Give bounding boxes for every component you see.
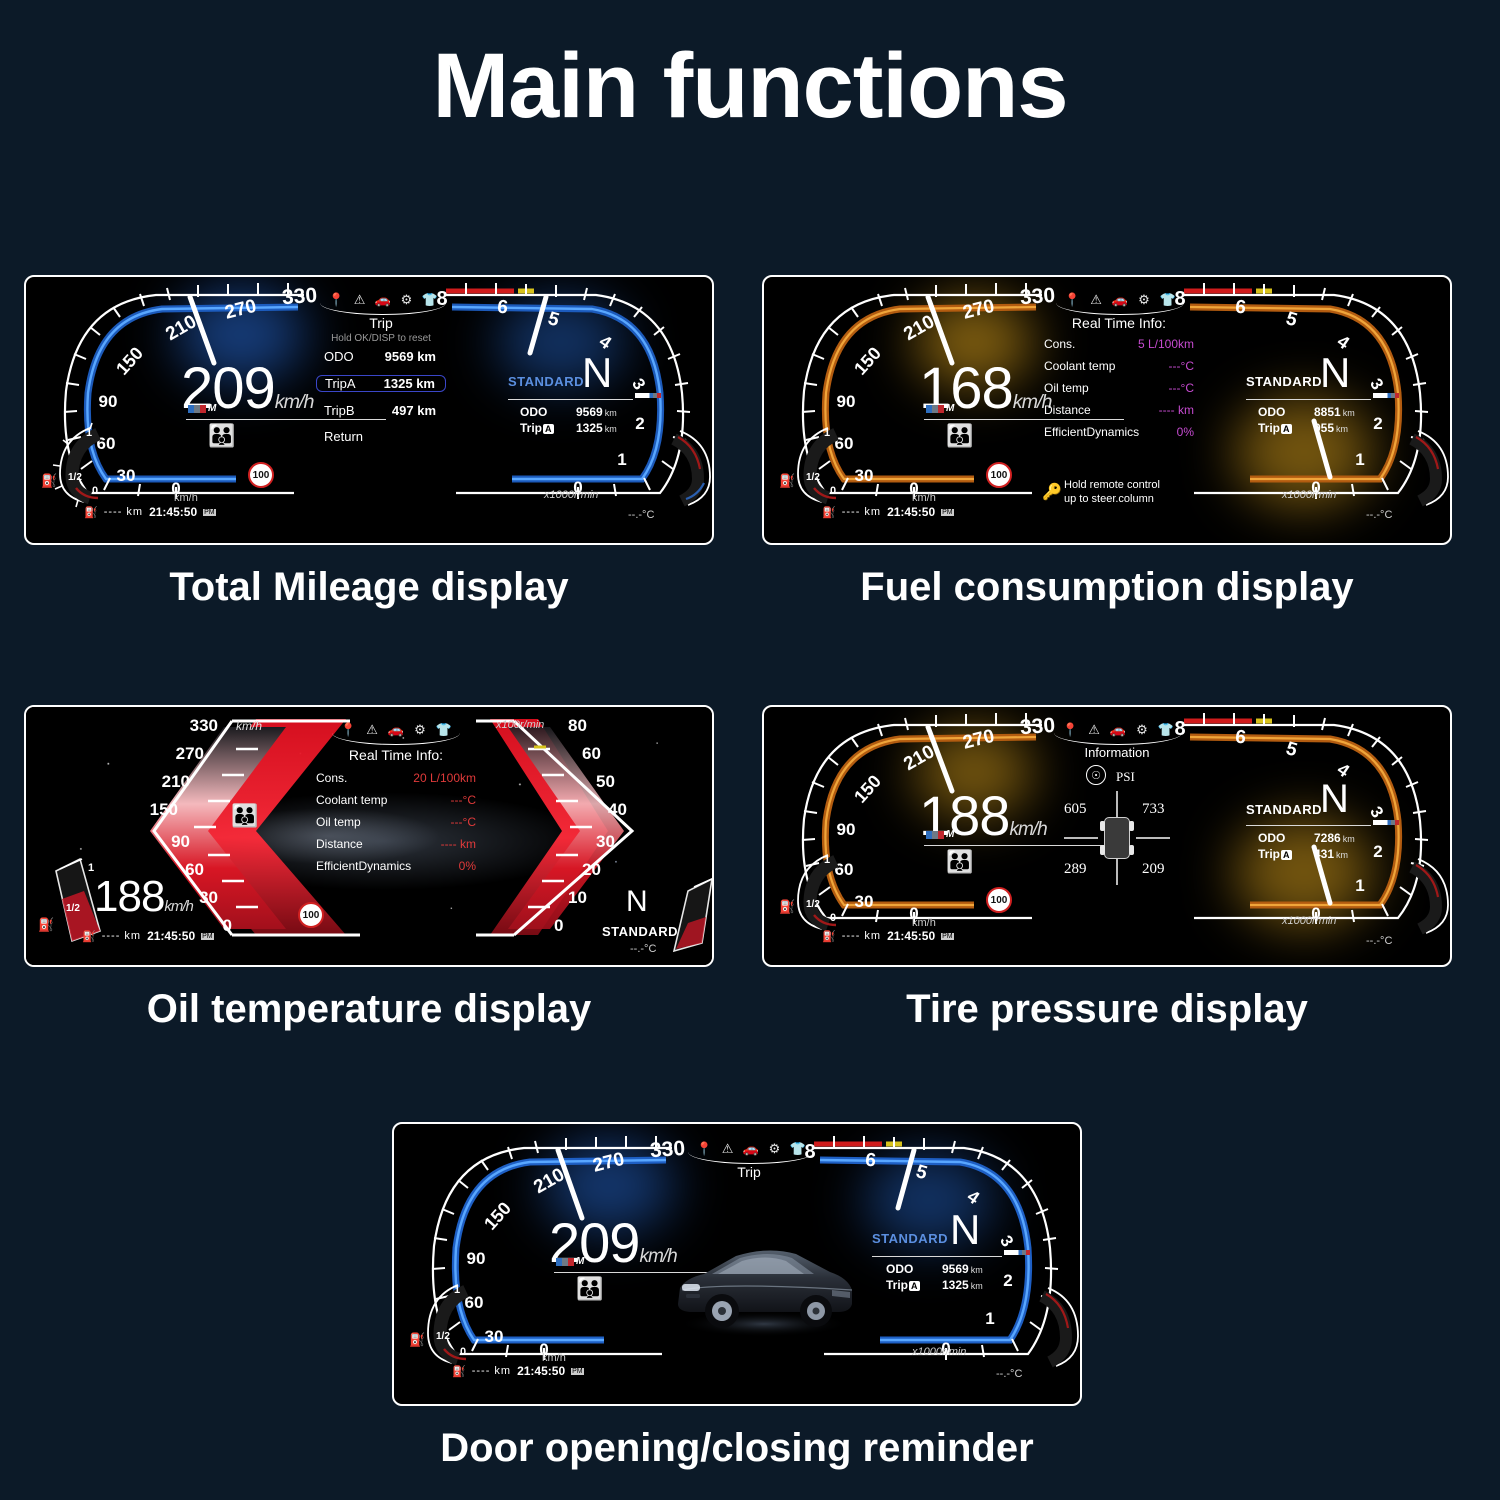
tire-front-left-value: 605 bbox=[1064, 801, 1087, 818]
panel-caption-door-reminder: Door opening/closing reminder bbox=[392, 1426, 1082, 1471]
panel-fuel-consumption: 330 270 210 150 90 60 30 0 km/h 1 bbox=[762, 275, 1452, 545]
outside-temp: --.-°C bbox=[628, 509, 654, 521]
gear-indicator: N bbox=[950, 1206, 980, 1254]
product-feature-page: Main functions bbox=[0, 0, 1500, 1500]
tpms-tyre-rr bbox=[1129, 845, 1134, 855]
svg-text:210: 210 bbox=[162, 772, 190, 791]
svg-text:20: 20 bbox=[582, 860, 601, 879]
gear-indicator: N bbox=[626, 885, 648, 919]
svg-text:330: 330 bbox=[649, 1137, 686, 1162]
svg-text:6: 6 bbox=[1234, 727, 1247, 749]
speed-unit-label: km/h bbox=[174, 492, 198, 504]
svg-text:330: 330 bbox=[190, 716, 218, 735]
tpms-tyre-rl bbox=[1100, 845, 1105, 855]
pressure-unit-label: PSI bbox=[1116, 769, 1135, 785]
gear-indicator: N bbox=[1320, 349, 1350, 397]
rti-row-efficientdynamics: EfficientDynamics 0% bbox=[316, 859, 476, 873]
clock-value: 21:45:50 bbox=[149, 505, 197, 519]
svg-text:3: 3 bbox=[1366, 803, 1387, 821]
rti-value: ---°C bbox=[399, 815, 476, 829]
svg-text:30: 30 bbox=[485, 1327, 504, 1346]
rpm-unit-label: x1000r/min bbox=[912, 1346, 966, 1358]
range-icon: ⛽ bbox=[822, 930, 836, 943]
svg-text:2: 2 bbox=[1003, 1271, 1012, 1290]
panel-door-reminder: 330 270 210 150 90 60 30 0 km/h 1 bbox=[392, 1122, 1082, 1406]
svg-text:90: 90 bbox=[99, 392, 118, 411]
svg-text:0: 0 bbox=[830, 912, 836, 924]
speed-unit-label: km/h bbox=[912, 917, 936, 929]
panel-oil-temperature: 330 270 210 150 90 60 30 0 km/h 1 bbox=[24, 705, 714, 967]
svg-text:330: 330 bbox=[281, 284, 318, 309]
rti-value: 0% bbox=[411, 859, 476, 873]
bottom-status-bar: ⛽ ---- km 21:45:50 PM bbox=[84, 505, 216, 519]
svg-text:1/2: 1/2 bbox=[806, 472, 820, 483]
tpms-tyre-fl bbox=[1100, 821, 1105, 831]
coolant-gauge bbox=[1404, 425, 1452, 511]
speed-limit-sign: 100 bbox=[986, 462, 1012, 488]
range-value: ---- km bbox=[842, 506, 881, 518]
svg-text:1: 1 bbox=[454, 1284, 460, 1296]
menu-label: TripA bbox=[317, 376, 376, 391]
svg-text:150: 150 bbox=[480, 1198, 515, 1234]
drive-mode-label: STANDARD bbox=[1246, 801, 1322, 819]
speed-limit-sign: 100 bbox=[248, 462, 274, 488]
tachometer-dial: 8 6 5 4 3 2 1 0 bbox=[1164, 711, 1444, 946]
svg-text:30: 30 bbox=[117, 466, 136, 485]
trip-readout: TripA1325km bbox=[886, 1278, 983, 1292]
menu-label: Return bbox=[316, 429, 376, 444]
drive-mode-label: STANDARD bbox=[1246, 373, 1322, 391]
svg-text:150: 150 bbox=[112, 343, 147, 379]
tachometer-dial: 8 6 5 4 3 2 1 0 bbox=[794, 1134, 1074, 1382]
fuel-pump-icon: ⛽ bbox=[409, 1332, 425, 1348]
svg-text:1/2: 1/2 bbox=[66, 903, 80, 914]
svg-text:270: 270 bbox=[176, 744, 204, 763]
speed-limit-sign: 100 bbox=[986, 887, 1012, 913]
rpm-unit-label: x1000r/min bbox=[1282, 489, 1336, 501]
remote-control-message: Hold remote controlup to steer.column bbox=[1064, 479, 1160, 507]
fuel-gauge: 1 1/2 0 bbox=[46, 422, 116, 512]
m-logo: M bbox=[926, 831, 954, 839]
rti-value: ---°C bbox=[399, 793, 476, 807]
svg-text:30: 30 bbox=[855, 892, 874, 911]
coolant-gauge bbox=[666, 425, 714, 511]
svg-text:1: 1 bbox=[1355, 876, 1364, 895]
m-stripe bbox=[1373, 820, 1399, 825]
m-logo: M bbox=[926, 405, 954, 413]
svg-text:6: 6 bbox=[864, 1150, 877, 1172]
clock-value: 21:45:50 bbox=[147, 929, 195, 943]
trip-readout: TripA1325km bbox=[520, 421, 617, 435]
panel-caption-total-mileage: Total Mileage display bbox=[24, 565, 714, 610]
range-value: ---- km bbox=[472, 1365, 511, 1377]
tpms-car-diagram bbox=[1104, 817, 1130, 859]
range-icon: ⛽ bbox=[84, 506, 98, 519]
m-stripe bbox=[1373, 393, 1399, 398]
tire-front-right-value: 733 bbox=[1142, 801, 1165, 818]
gear-indicator: N bbox=[1320, 777, 1349, 822]
speed-unit-label: km/h bbox=[542, 1352, 566, 1364]
range-value: ---- km bbox=[104, 506, 143, 518]
svg-text:2: 2 bbox=[1373, 414, 1382, 433]
svg-text:90: 90 bbox=[467, 1249, 486, 1268]
svg-text:50: 50 bbox=[596, 772, 615, 791]
svg-text:3: 3 bbox=[628, 375, 649, 393]
coolant-gauge bbox=[1034, 1282, 1082, 1372]
fuel-gauge: 1 1/2 0 bbox=[784, 849, 854, 939]
tach-divider bbox=[1246, 825, 1371, 826]
svg-text:1/2: 1/2 bbox=[806, 899, 820, 910]
m-stripe bbox=[635, 393, 661, 398]
fuel-pump-icon: ⛽ bbox=[779, 473, 795, 489]
rti-row-cons: Cons. 20 L/100km bbox=[316, 771, 476, 785]
coolant-gauge bbox=[666, 867, 714, 957]
rti-value: 20 L/100km bbox=[399, 771, 476, 785]
clock-ampm: PM bbox=[201, 933, 214, 940]
svg-text:1: 1 bbox=[985, 1309, 994, 1328]
fuel-pump-icon: ⛽ bbox=[38, 917, 54, 933]
outside-temp: --.-°C bbox=[630, 943, 656, 955]
range-icon: ⛽ bbox=[82, 930, 96, 943]
drive-mode-label: STANDARD bbox=[872, 1230, 948, 1248]
clock-ampm: PM bbox=[571, 1368, 584, 1375]
odo-readout: ODO9569km bbox=[886, 1262, 983, 1276]
fuel-gauge: 1 1/2 0 bbox=[784, 422, 854, 512]
tach-divider bbox=[508, 399, 633, 400]
svg-text:2: 2 bbox=[1373, 842, 1382, 861]
svg-text:0: 0 bbox=[830, 485, 836, 497]
coolant-gauge bbox=[1404, 853, 1452, 939]
cluster-screen-tire-pressure: 330 270 210 150 90 60 30 0 km/h 1 bbox=[762, 705, 1452, 967]
panel-caption-tire-pressure: Tire pressure display bbox=[762, 987, 1452, 1032]
rti-label: Distance bbox=[316, 837, 399, 851]
rti-label: EfficientDynamics bbox=[1044, 425, 1139, 439]
panel-total-mileage: 330 270 210 150 90 60 30 0 km/h bbox=[24, 275, 714, 545]
svg-text:270: 270 bbox=[961, 726, 997, 754]
menu-label: TripB bbox=[316, 403, 376, 418]
svg-text:270: 270 bbox=[223, 296, 259, 324]
svg-text:60: 60 bbox=[582, 744, 601, 763]
range-icon: ⛽ bbox=[822, 506, 836, 519]
svg-text:0: 0 bbox=[554, 916, 563, 935]
fuel-pump-icon: ⛽ bbox=[41, 473, 57, 489]
center-console-oil-temp: 📍 ⚠ 🚗 ⚙ 👕 Real Time Info: Cons. 20 L/100… bbox=[316, 713, 476, 903]
svg-text:8: 8 bbox=[1174, 718, 1185, 740]
console-arc bbox=[1054, 733, 1182, 745]
trip-readout: TripA955km bbox=[1258, 421, 1348, 435]
speed-unit-label: km/h bbox=[236, 719, 262, 733]
outside-temp: --.-°C bbox=[996, 1368, 1022, 1380]
bottom-status-bar: ⛽ ---- km 21:45:50 PM bbox=[452, 1364, 584, 1378]
console-title: Real Time Info: bbox=[316, 747, 476, 763]
svg-text:30: 30 bbox=[596, 832, 615, 851]
odo-readout: ODO8851km bbox=[1258, 405, 1355, 419]
range-value: ---- km bbox=[842, 930, 881, 942]
svg-text:90: 90 bbox=[837, 392, 856, 411]
svg-text:10: 10 bbox=[568, 888, 587, 907]
svg-text:2: 2 bbox=[635, 414, 644, 433]
rpm-unit-label: x1000r/min bbox=[1282, 915, 1336, 927]
panel-tire-pressure: 330 270 210 150 90 60 30 0 km/h 1 bbox=[762, 705, 1452, 967]
odo-readout: ODO9569km bbox=[520, 405, 617, 419]
bottom-status-bar: ⛽ ---- km 21:45:50 PM bbox=[822, 929, 954, 943]
svg-text:80: 80 bbox=[568, 716, 587, 735]
gear-indicator: N bbox=[582, 349, 612, 397]
svg-text:210: 210 bbox=[900, 741, 938, 775]
rti-row-oil: Oil temp ---°C bbox=[316, 815, 476, 829]
seatbelt-reminder-icon: 👪 bbox=[946, 425, 973, 447]
svg-text:1: 1 bbox=[617, 450, 626, 469]
bottom-status-bar: ⛽ ---- km 21:45:50 PM bbox=[82, 929, 214, 943]
tire-icon: ☉ bbox=[1086, 765, 1106, 785]
svg-text:8: 8 bbox=[1174, 288, 1185, 310]
outside-temp: --.-°C bbox=[1366, 935, 1392, 947]
svg-text:4: 4 bbox=[964, 1186, 983, 1208]
svg-text:90: 90 bbox=[837, 820, 856, 839]
panel-caption-oil-temperature: Oil temperature display bbox=[24, 987, 714, 1032]
range-value: ---- km bbox=[102, 930, 141, 942]
page-title: Main functions bbox=[0, 34, 1500, 139]
rpm-unit-label: x100r/min bbox=[496, 719, 544, 731]
tach-divider bbox=[1246, 399, 1371, 400]
tpms-divider-vertical-bottom bbox=[1116, 855, 1118, 885]
tire-rear-right-value: 209 bbox=[1142, 861, 1165, 878]
svg-text:150: 150 bbox=[150, 800, 178, 819]
rti-label: Cons. bbox=[316, 771, 399, 785]
speed-value: 188km/h bbox=[94, 872, 193, 922]
rpm-unit-label: x1000r/min bbox=[544, 489, 598, 501]
fuel-pump-icon: ⛽ bbox=[779, 899, 795, 915]
svg-text:150: 150 bbox=[850, 771, 885, 807]
svg-text:1: 1 bbox=[824, 854, 830, 866]
tpms-divider-horizontal-left bbox=[1064, 837, 1098, 839]
rti-row-distance: Distance ---- km bbox=[316, 837, 476, 851]
svg-text:0: 0 bbox=[223, 916, 232, 935]
svg-text:3: 3 bbox=[996, 1232, 1017, 1250]
rti-label: Oil temp bbox=[316, 815, 399, 829]
svg-text:1: 1 bbox=[86, 427, 92, 439]
tpms-tyre-fr bbox=[1129, 821, 1134, 831]
console-arc bbox=[332, 733, 460, 745]
svg-text:90: 90 bbox=[171, 832, 190, 851]
bottom-status-bar: ⛽ ---- km 21:45:50 PM bbox=[822, 505, 954, 519]
clock-ampm: PM bbox=[941, 509, 954, 516]
m-stripe bbox=[1004, 1250, 1030, 1255]
tire-rear-left-value: 289 bbox=[1064, 861, 1087, 878]
svg-text:8: 8 bbox=[804, 1141, 815, 1163]
rti-label: Oil temp bbox=[1044, 381, 1122, 395]
tachometer-dial: 8 6 5 4 3 2 1 0 bbox=[426, 281, 706, 521]
svg-text:30: 30 bbox=[199, 888, 218, 907]
fuel-gauge: 1 1/2 0 bbox=[414, 1279, 484, 1374]
svg-text:270: 270 bbox=[591, 1149, 627, 1177]
svg-text:6: 6 bbox=[1234, 297, 1247, 319]
seatbelt-reminder-icon: 👪 bbox=[946, 851, 973, 873]
rti-label: EfficientDynamics bbox=[316, 859, 411, 873]
speed-unit-label: km/h bbox=[912, 492, 936, 504]
key-remote-icon: 🔑 bbox=[1042, 482, 1062, 502]
rti-value: ---- km bbox=[399, 837, 476, 851]
svg-text:1/2: 1/2 bbox=[68, 472, 82, 483]
odo-readout: ODO7286km bbox=[1258, 831, 1355, 845]
svg-text:270: 270 bbox=[961, 296, 997, 324]
rti-label: Coolant temp bbox=[316, 793, 399, 807]
clock-value: 21:45:50 bbox=[517, 1364, 565, 1378]
rti-label: Distance bbox=[1044, 403, 1122, 417]
tach-divider bbox=[872, 1256, 1002, 1257]
seatbelt-reminder-icon: 👪 bbox=[208, 425, 235, 447]
svg-text:1: 1 bbox=[1355, 450, 1364, 469]
clock-ampm: PM bbox=[203, 509, 216, 516]
svg-text:3: 3 bbox=[1366, 375, 1387, 393]
svg-text:8: 8 bbox=[436, 288, 447, 310]
svg-text:6: 6 bbox=[496, 297, 509, 319]
svg-text:40: 40 bbox=[608, 800, 627, 819]
svg-text:1: 1 bbox=[824, 427, 830, 439]
cluster-screen-fuel-consumption: 330 270 210 150 90 60 30 0 km/h 1 bbox=[762, 275, 1452, 545]
cluster-screen-door-reminder: 330 270 210 150 90 60 30 0 km/h 1 bbox=[392, 1122, 1082, 1406]
tachometer-dial: 8 6 5 4 3 2 1 0 bbox=[1164, 281, 1444, 521]
rti-row-coolant: Coolant temp ---°C bbox=[316, 793, 476, 807]
rti-label: Coolant temp bbox=[1044, 359, 1122, 373]
clock-value: 21:45:50 bbox=[887, 505, 935, 519]
panel-caption-fuel-consumption: Fuel consumption display bbox=[762, 565, 1452, 610]
svg-text:1/2: 1/2 bbox=[436, 1331, 450, 1342]
svg-text:150: 150 bbox=[850, 343, 885, 379]
range-icon: ⛽ bbox=[452, 1365, 466, 1378]
outside-temp: --.-°C bbox=[1366, 509, 1392, 521]
svg-text:0: 0 bbox=[92, 485, 98, 497]
cluster-screen-oil-temperature: 330 270 210 150 90 60 30 0 km/h 1 bbox=[24, 705, 714, 967]
rti-label: Cons. bbox=[1044, 337, 1122, 351]
clock-value: 21:45:50 bbox=[887, 929, 935, 943]
menu-label: ODO bbox=[316, 349, 376, 364]
svg-text:30: 30 bbox=[855, 466, 874, 485]
seatbelt-reminder-icon: 👪 bbox=[231, 805, 258, 827]
clock-ampm: PM bbox=[941, 933, 954, 940]
seatbelt-reminder-icon: 👪 bbox=[576, 1278, 603, 1300]
trip-readout: TripA431km bbox=[1258, 847, 1348, 861]
m-logo: M bbox=[556, 1258, 584, 1266]
speed-limit-sign: 100 bbox=[298, 902, 324, 928]
svg-text:0: 0 bbox=[460, 1346, 466, 1358]
drive-mode-label: STANDARD bbox=[508, 373, 584, 391]
cluster-screen-total-mileage: 330 270 210 150 90 60 30 0 km/h bbox=[24, 275, 714, 545]
m-logo: M bbox=[188, 405, 216, 413]
